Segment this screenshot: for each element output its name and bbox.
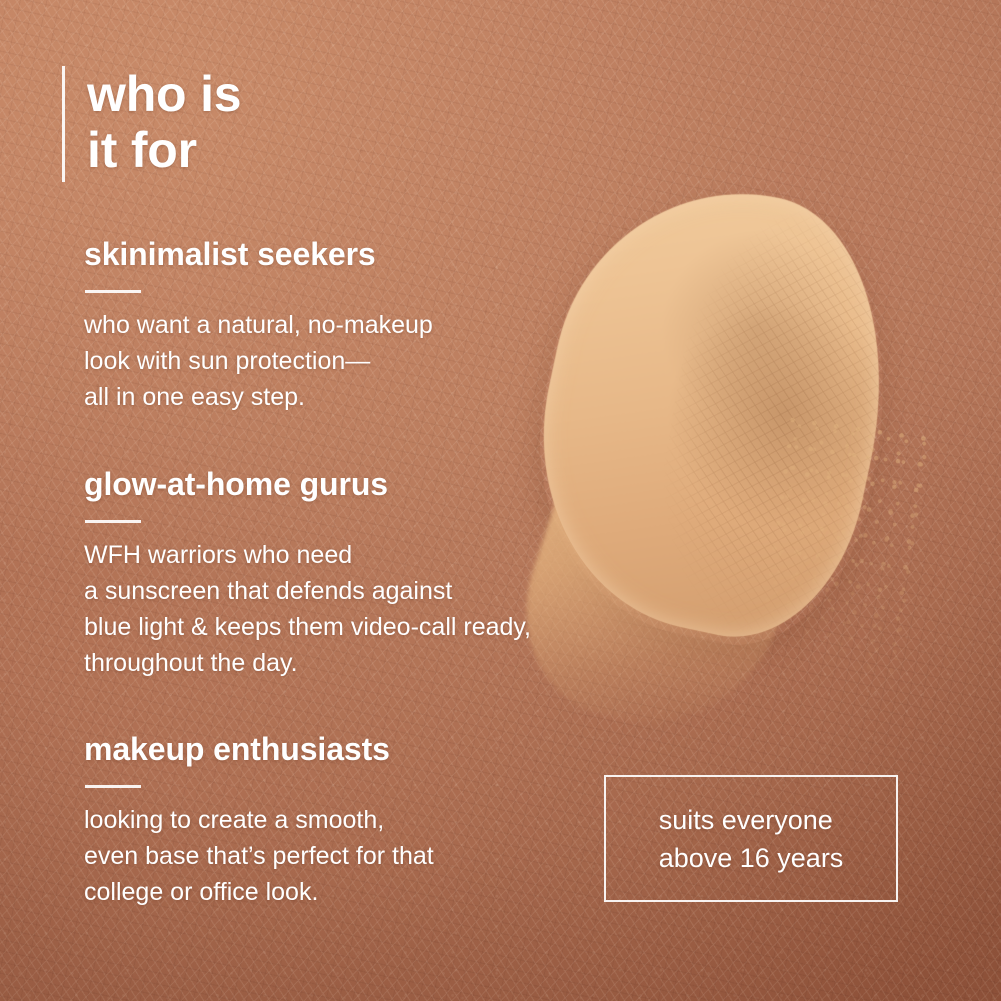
section-body: WFH warriors who need a sunscreen that d…	[84, 537, 644, 681]
audience-section-skinimalist-seekers: skinimalist seekers who want a natural, …	[84, 235, 644, 415]
section-divider	[85, 520, 141, 523]
section-divider	[85, 785, 141, 788]
section-heading: makeup enthusiasts	[84, 730, 644, 768]
marketing-graphic-canvas: who is it for skinimalist seekers who wa…	[0, 0, 1001, 1001]
section-heading: skinimalist seekers	[84, 235, 644, 273]
suitability-callout-text: suits everyone above 16 years	[659, 801, 844, 877]
suitability-callout-box: suits everyone above 16 years	[604, 775, 898, 902]
page-title: who is it for	[87, 66, 241, 178]
page-title-block: who is it for	[62, 66, 241, 182]
section-body: who want a natural, no-makeup look with …	[84, 307, 644, 415]
section-heading: glow-at-home gurus	[84, 465, 644, 503]
audience-section-makeup-enthusiasts: makeup enthusiasts looking to create a s…	[84, 730, 644, 910]
section-divider	[85, 290, 141, 293]
audience-section-glow-at-home-gurus: glow-at-home gurus WFH warriors who need…	[84, 465, 644, 681]
content-layer: who is it for skinimalist seekers who wa…	[0, 0, 1001, 1001]
section-body: looking to create a smooth, even base th…	[84, 802, 644, 910]
